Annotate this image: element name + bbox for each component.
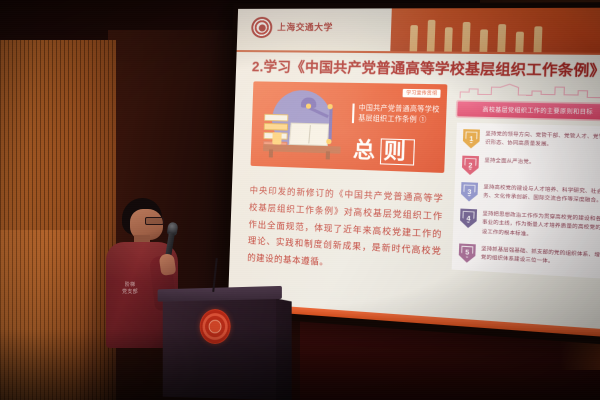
badge-number-icon: 2 (462, 156, 479, 176)
lamp-post (328, 106, 332, 143)
slide-left-column: 学习宣传贯彻 中国共产党普通高等学校基层组织工作条例 ① 总则 中央印发的新修订… (247, 81, 447, 278)
skyline-decoration-icon (458, 82, 600, 102)
slide-right-column: 高校基层党组织工作的主要原则和目标 1 坚持党的领导方向、党管干部、党管人才、党… (452, 82, 600, 279)
auditorium-presentation-photo: 上海交通大学 2.学习《中国共产党普通高等学校基层组织工作条例》 (0, 0, 600, 400)
lamp-joint (327, 104, 332, 109)
lamp-joint (326, 139, 331, 144)
list-item-text: 坚持抓基层强基础、抓支部的党的组织体系、增强党的组织体系建设三位一体。 (481, 244, 600, 270)
shirt-logo-text: 阶梯 党支部 (120, 282, 140, 296)
photo-pillar (533, 26, 542, 53)
right-panel-banner: 高校基层党组织工作的主要原则和目标 (457, 101, 600, 120)
list-item-text: 坚持高校党的建设与人才培养、科学研究、社会服务、文化传承创新、国际交流合作等深度… (483, 183, 600, 207)
badge-number-icon: 1 (463, 129, 480, 149)
desk-leg (269, 149, 273, 157)
projection-screen-surface: 上海交通大学 2.学习《中国共产党普通高等学校基层组织工作条例》 (228, 8, 600, 338)
hero-big-char-2: 则 (380, 138, 415, 165)
list-item-text: 坚持全面从严治党。 (484, 156, 535, 168)
list-item-text: 坚持党的领导方向、党管干部、党管人才、党管意识形态、协同高质量发展。 (485, 130, 600, 153)
photo-pillar (515, 32, 524, 54)
badge-number-icon: 4 (460, 209, 477, 229)
list-item-text: 坚持把思想政治工作作为贯穿高校党的建设和各项事业的主线，作为衡量人才培养质量的高… (482, 210, 600, 244)
cup-icon (272, 132, 281, 144)
photo-pillar (410, 25, 419, 52)
desk-leg (326, 151, 330, 159)
university-seal-icon (251, 17, 273, 38)
presentation-slide: 上海交通大学 2.学习《中国共产党普通高等学校基层组织工作条例》 (228, 8, 600, 338)
photo-pillar (427, 20, 436, 53)
photo-pillar (497, 24, 506, 53)
hero-tag: 学习宣传贯彻 (403, 89, 441, 98)
badge-number-icon: 5 (459, 243, 476, 263)
hero-headline: 中国共产党普通高等学校基层组织工作条例 ① (352, 104, 445, 126)
open-book-icon (289, 123, 330, 147)
slide-header-photo (390, 8, 600, 54)
desk-lamp-books-illustration (259, 87, 347, 165)
principles-list: 1 坚持党的领导方向、党管干部、党管人才、党管意识形态、协同高质量发展。 2 坚… (452, 123, 600, 279)
floor-shadow (0, 330, 600, 400)
podium-top-surface (158, 286, 282, 302)
photo-pillar (479, 29, 488, 52)
badge-number-icon: 3 (461, 182, 478, 202)
hero-card: 学习宣传贯彻 中国共产党普通高等学校基层组织工作条例 ① 总则 (251, 81, 448, 173)
eyeglasses-icon (145, 217, 164, 225)
slide-title: 2.学习《中国共产党普通高等学校基层组织工作条例》 (252, 55, 600, 80)
photo-pillar (462, 22, 471, 53)
photo-pillar (444, 27, 453, 52)
hero-big-label: 总则 (353, 140, 415, 164)
university-name: 上海交通大学 (277, 23, 333, 32)
lamp-joint (306, 104, 311, 109)
slide-body-paragraph: 中央印发的新修订的《中国共产党普通高等学校基层组织工作条例》对高校基层党组织工作… (247, 182, 444, 278)
university-logo: 上海交通大学 (251, 17, 333, 39)
hero-big-char-1: 总 (353, 139, 381, 164)
